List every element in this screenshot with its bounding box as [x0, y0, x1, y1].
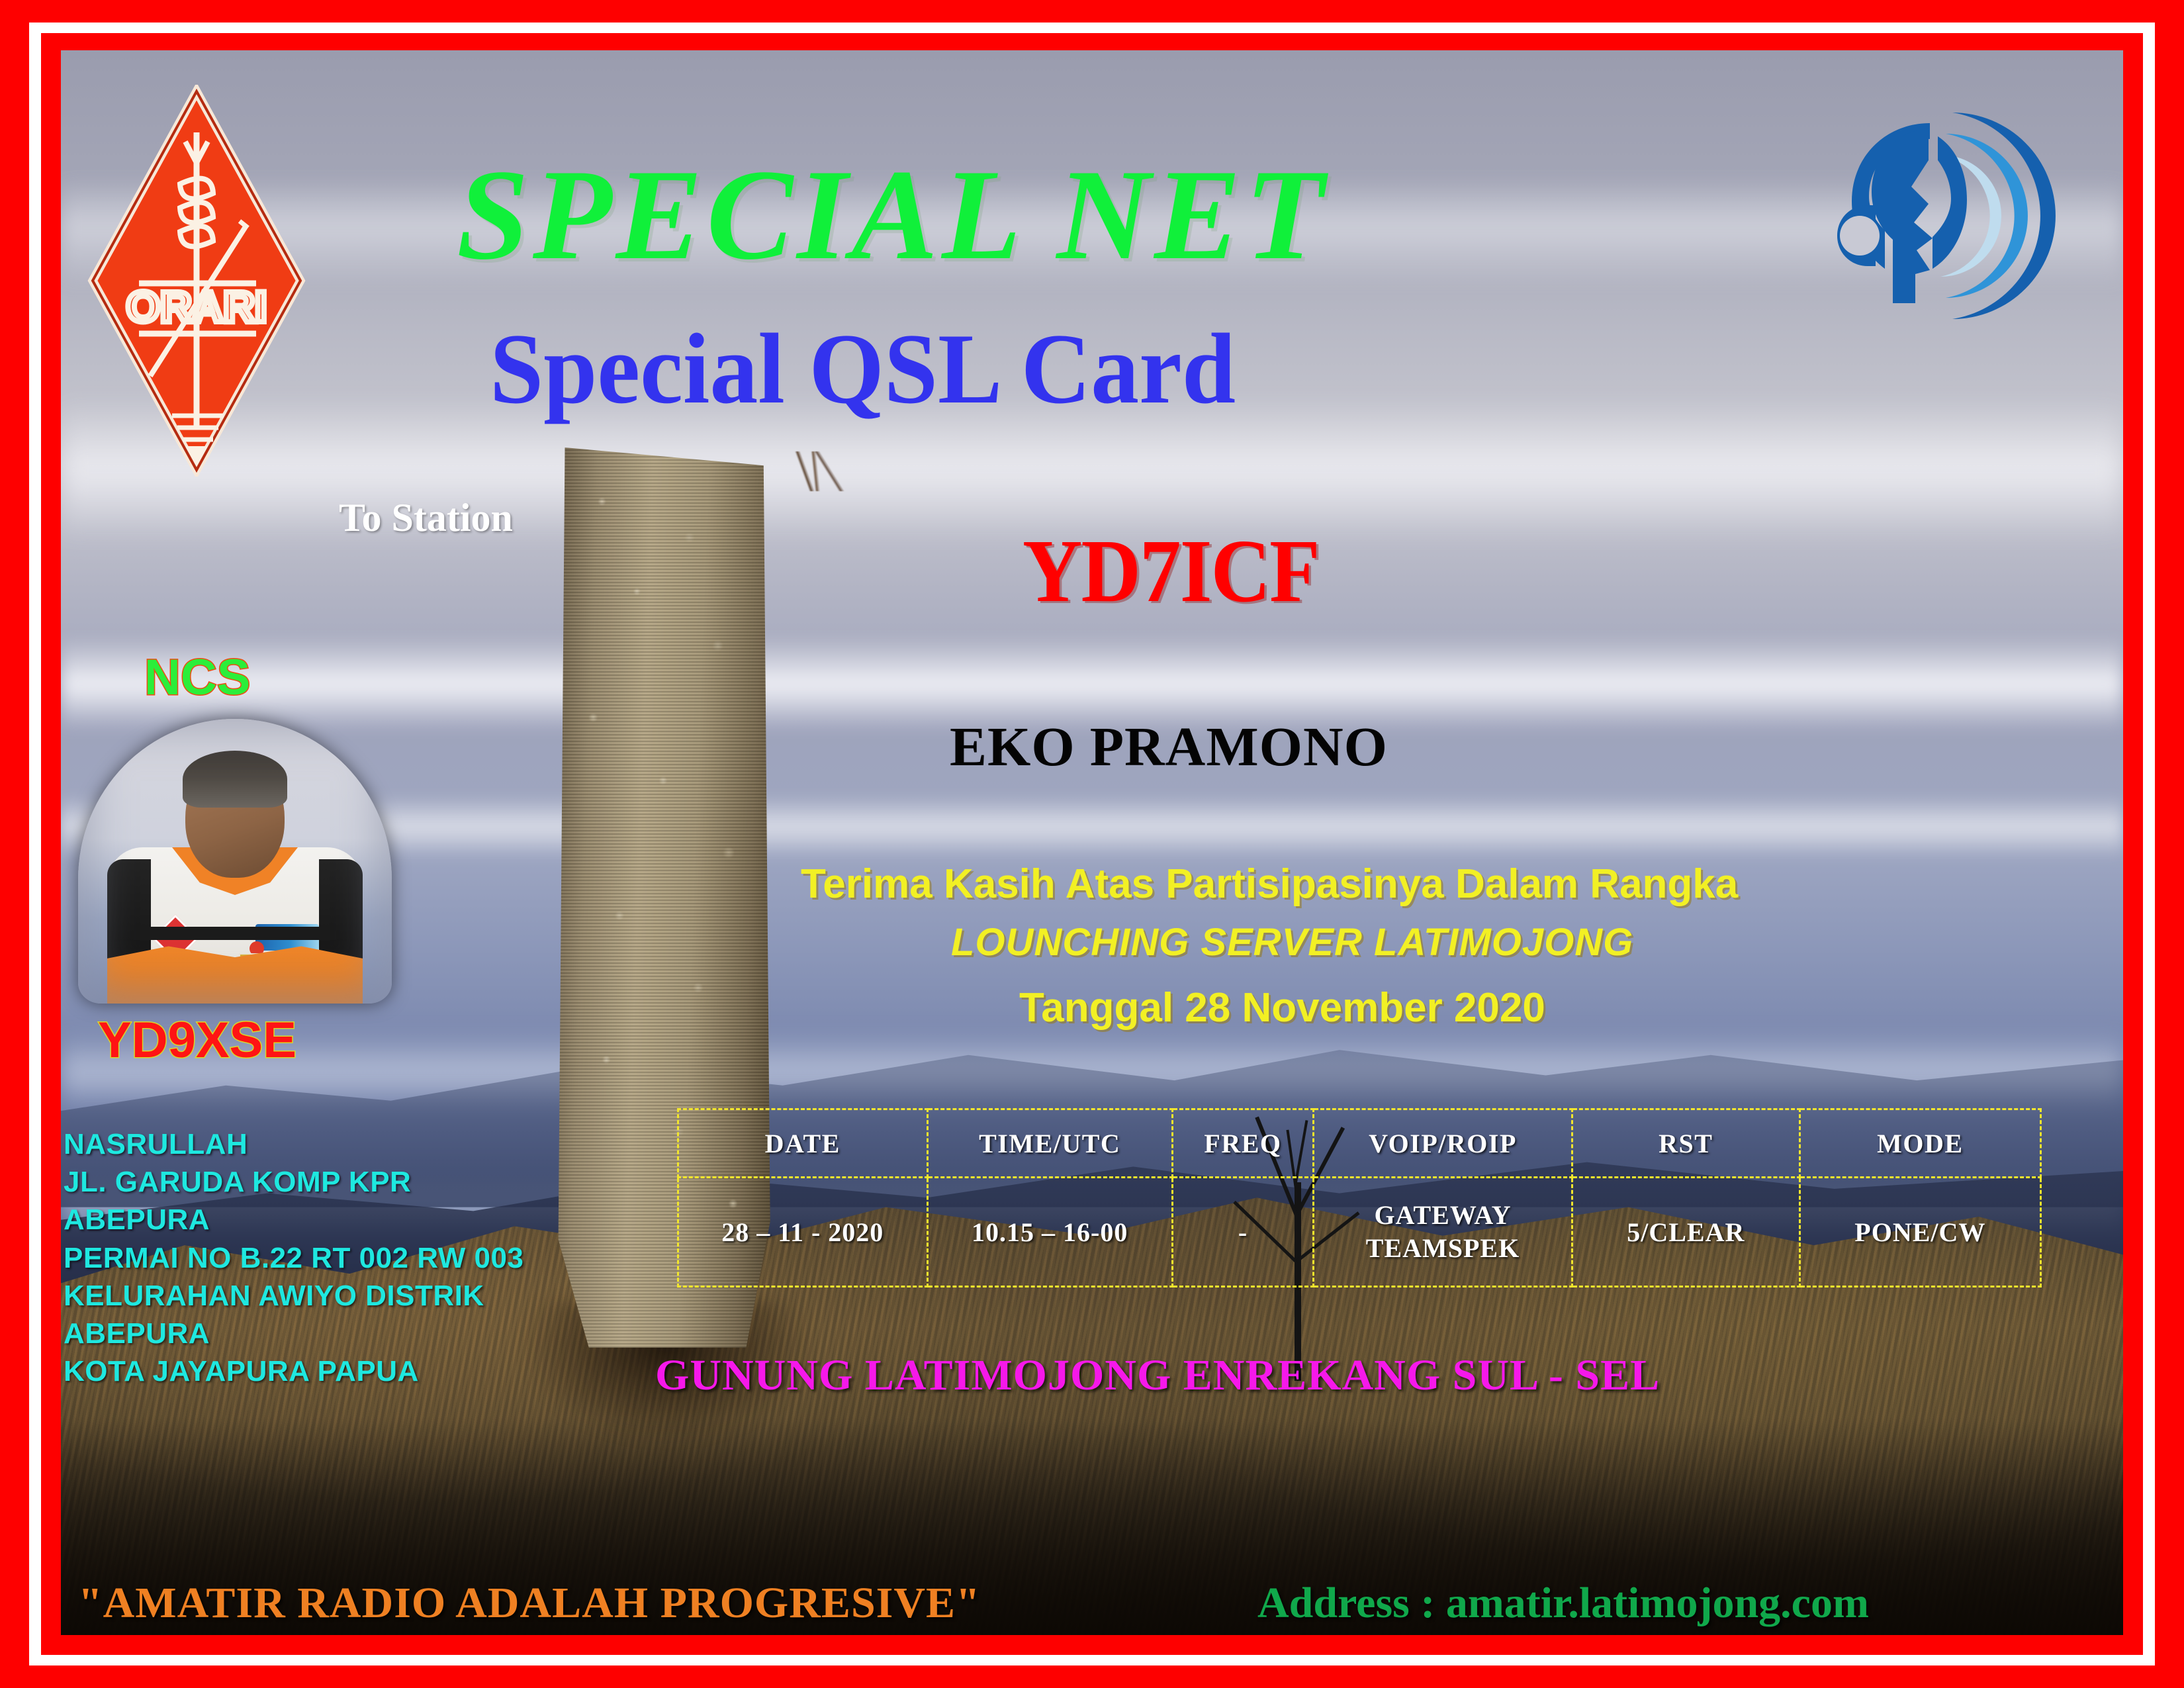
- title-special-net: SPECIAL NET: [457, 140, 1328, 289]
- operator-name: EKO PRAMONO: [950, 715, 1388, 779]
- title-special-qsl-card: Special QSL Card: [490, 311, 1236, 426]
- station-callsign: YD7ICF: [1023, 520, 1319, 623]
- orari-logo: ORARI: [87, 85, 306, 477]
- ncs-label: NCS: [144, 649, 250, 706]
- table-row: 28 – 11 - 2020 10.15 – 16-00 - GATEWAY T…: [678, 1178, 2041, 1287]
- qso-log-table: DATE TIME/UTC FREQ VOIP/ROIP RST MODE 28…: [677, 1108, 2042, 1288]
- mailing-address-block: NASRULLAH JL. GARUDA KOMP KPR ABEPURA PE…: [64, 1125, 606, 1390]
- table-header-freq: FREQ: [1172, 1109, 1313, 1178]
- footer-motto: "AMATIR RADIO ADALAH PROGRESIVE": [78, 1578, 981, 1628]
- headset-operator-waves-logo: [1799, 99, 2066, 332]
- table-header-rst: RST: [1572, 1109, 1799, 1178]
- address-line: JL. GARUDA KOMP KPR: [64, 1163, 606, 1201]
- table-header-row: DATE TIME/UTC FREQ VOIP/ROIP RST MODE: [678, 1109, 2041, 1178]
- thanks-line: Terima Kasih Atas Partisipasinya Dalam R…: [801, 861, 1738, 908]
- twig-on-monument: [759, 451, 858, 491]
- location-caption: GUNUNG LATIMOJONG ENREKANG SUL - SEL: [655, 1350, 1660, 1401]
- address-line: KOTA JAYAPURA PAPUA: [64, 1352, 606, 1390]
- table-header-time-utc: TIME/UTC: [927, 1109, 1172, 1178]
- address-line: NASRULLAH: [64, 1125, 606, 1163]
- cell-date: 28 – 11 - 2020: [678, 1178, 928, 1287]
- footer-address: Address : amatir.latimojong.com: [1257, 1578, 1869, 1628]
- cell-time-utc: 10.15 – 16-00: [927, 1178, 1172, 1287]
- ncs-operator-photo: YD9XSE: [78, 719, 392, 1004]
- cell-voip-roip: GATEWAY TEAMSPEK: [1314, 1178, 1572, 1287]
- orari-logo-text: ORARI: [126, 282, 267, 331]
- event-line: LOUNCHING SERVER LATIMOJONG: [951, 920, 1633, 964]
- cell-mode: PONE/CW: [1799, 1178, 2040, 1287]
- address-line: PERMAI NO B.22 RT 002 RW 003: [64, 1239, 606, 1277]
- to-station-label: To Station: [339, 495, 513, 541]
- address-line: KELURAHAN AWIYO DISTRIK: [64, 1277, 606, 1315]
- cell-freq: -: [1172, 1178, 1313, 1287]
- cell-voip-roip-line2: TEAMSPEK: [1314, 1232, 1571, 1265]
- address-line: ABEPURA: [64, 1201, 606, 1239]
- table-header-date: DATE: [678, 1109, 928, 1178]
- table-header-voip-roip: VOIP/ROIP: [1314, 1109, 1572, 1178]
- qsl-card: ORARI YD9XSE: [0, 0, 2184, 1688]
- event-date-line: Tanggal 28 November 2020: [1019, 984, 1545, 1031]
- address-line: ABEPURA: [64, 1315, 606, 1352]
- ncs-callsign: YD9XSE: [98, 1011, 296, 1069]
- table-header-mode: MODE: [1799, 1109, 2040, 1178]
- cell-rst: 5/CLEAR: [1572, 1178, 1799, 1287]
- cell-voip-roip-line1: GATEWAY: [1314, 1199, 1571, 1232]
